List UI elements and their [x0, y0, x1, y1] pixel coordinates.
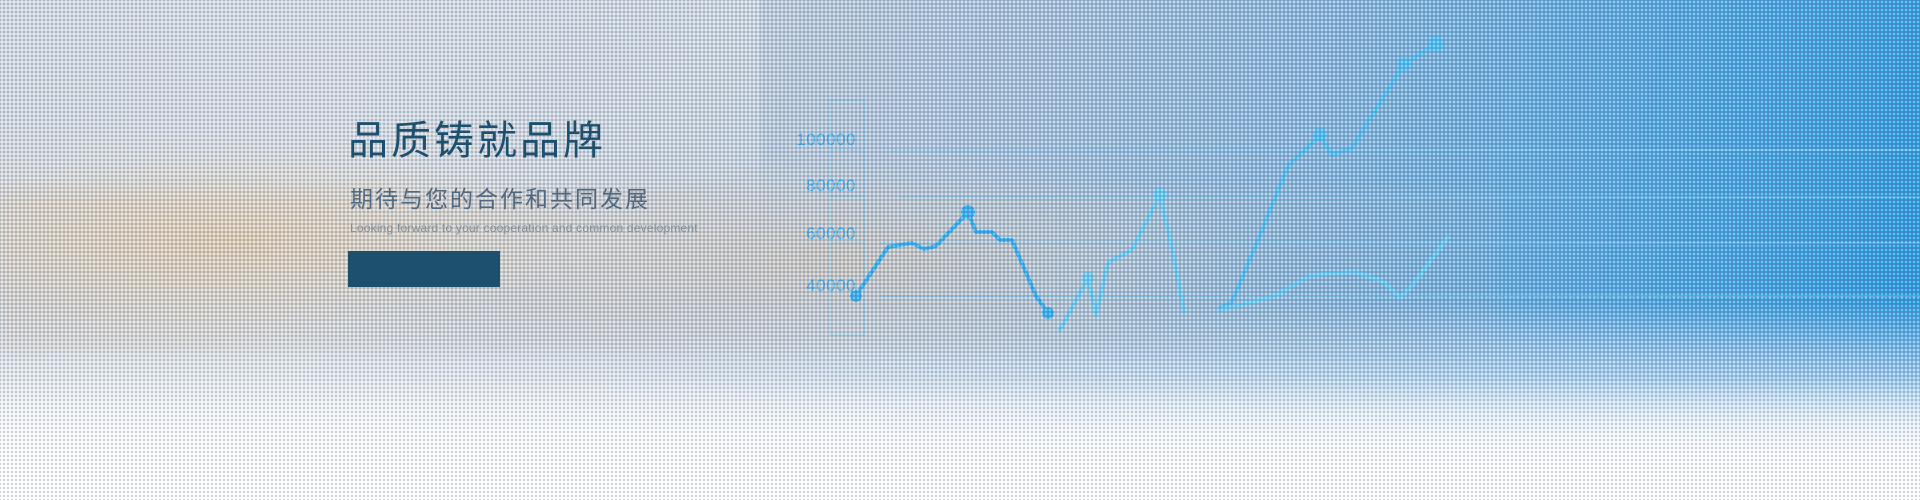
promo-banner: 100000 80000 60000 40000	[0, 0, 1920, 500]
copy-block: 品质铸就品牌 期待与您的合作和共同发展 Looking forward to y…	[348, 118, 768, 235]
banner-subtitle-cn: 期待与您的合作和共同发展	[350, 186, 768, 214]
cta-button[interactable]	[348, 251, 500, 287]
banner-headline: 品质铸就品牌	[348, 118, 768, 164]
banner-subtitle-en: Looking forward to your cooperation and …	[350, 221, 768, 235]
halftone-overlay-dark	[0, 0, 1920, 500]
